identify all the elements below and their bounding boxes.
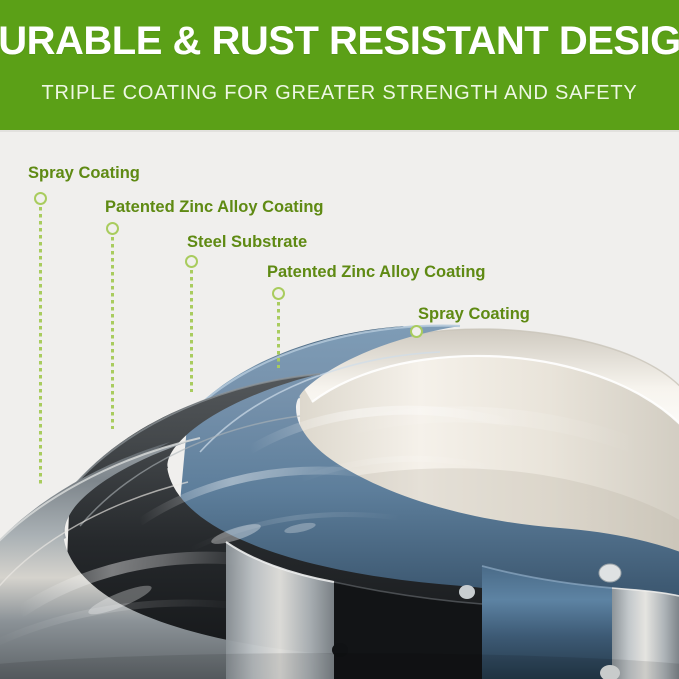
callout-marker-steel-substrate — [185, 255, 198, 268]
callout-label-steel-substrate: Steel Substrate — [187, 234, 307, 251]
header-banner: DURABLE & RUST RESISTANT DESIGN TRIPLE C… — [0, 0, 679, 130]
product-illustration — [0, 130, 679, 679]
callout-marker-zinc-alloy-left — [106, 222, 119, 235]
infographic-canvas: DURABLE & RUST RESISTANT DESIGN TRIPLE C… — [0, 0, 679, 679]
page-title: DURABLE & RUST RESISTANT DESIGN — [0, 21, 679, 61]
callout-leader-steel-substrate — [190, 270, 193, 392]
page-subtitle: TRIPLE COATING FOR GREATER STRENGTH AND … — [41, 83, 637, 103]
callout-label-zinc-alloy-left: Patented Zinc Alloy Coating — [105, 199, 324, 216]
callout-leader-zinc-alloy-right — [277, 302, 280, 368]
callout-label-zinc-alloy-right: Patented Zinc Alloy Coating — [267, 264, 486, 281]
callout-marker-spray-coating-left — [34, 192, 47, 205]
layered-rim-cutaway-graphic — [0, 130, 679, 679]
callout-marker-spray-coating-right — [410, 325, 423, 338]
callout-label-spray-coating-right: Spray Coating — [418, 306, 530, 323]
callout-marker-zinc-alloy-right — [272, 287, 285, 300]
bolt-hole — [459, 585, 475, 599]
callout-leader-zinc-alloy-left — [111, 237, 114, 429]
callout-label-spray-coating-left: Spray Coating — [28, 165, 140, 182]
callout-leader-spray-coating-left — [39, 207, 42, 487]
